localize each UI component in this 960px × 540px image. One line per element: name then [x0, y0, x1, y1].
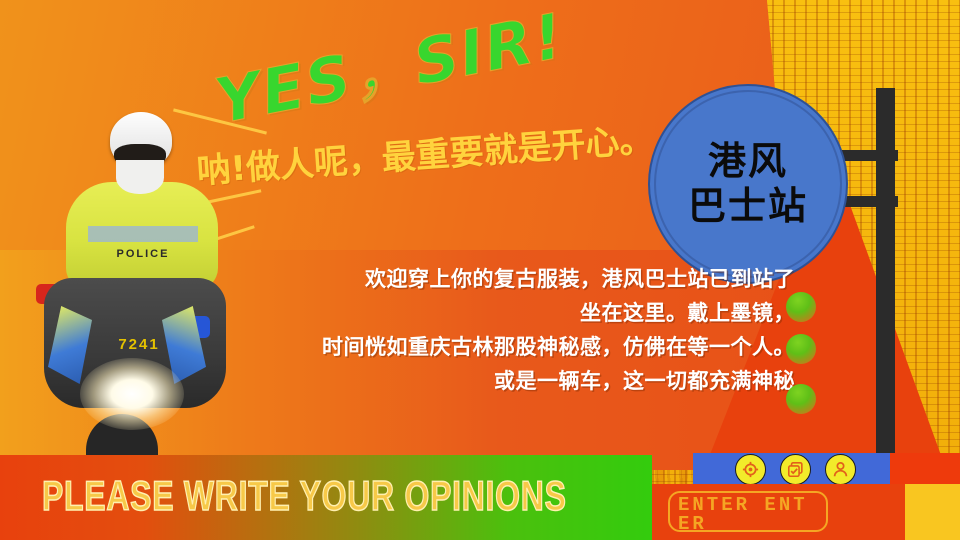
bus-stop-sign-line-1: 港风 — [708, 140, 788, 183]
body-copy-line: 或是一辆车，这一切都充满神秘 — [230, 364, 795, 398]
body-copy-line: 坐在这里。戴上墨镜， — [230, 296, 795, 330]
gradient-dot — [786, 292, 816, 322]
bus-stop-sign-line-2: 巴士站 — [688, 185, 808, 228]
rider-chin-guard — [116, 160, 164, 194]
gradient-dot — [786, 384, 816, 414]
body-copy-line: 时间恍如重庆古林那股神秘感，仿佛在等一个人。 — [230, 330, 795, 364]
red-block-top-right — [890, 453, 960, 484]
body-copy-line: 欢迎穿上你的复古服装，港风巴士站已到站了 — [230, 262, 795, 296]
motorcycle-unit-number: 7241 — [94, 336, 184, 353]
poster-body-copy: 欢迎穿上你的复古服装，港风巴士站已到站了 坐在这里。戴上墨镜， 时间恍如重庆古林… — [230, 262, 795, 398]
rider-vest-stripe — [88, 226, 198, 242]
bus-stop-post — [876, 88, 895, 480]
bus-stop-sign[interactable]: 港风 巴士站 — [648, 84, 848, 284]
headlight-beam — [80, 358, 184, 430]
checkbox-card-icon[interactable] — [780, 454, 811, 485]
gradient-dot — [786, 334, 816, 364]
poster-canvas: POLICE 7241 YES，SIR! 呐!做人呢，最重要就是开心。 港风 巴… — [0, 0, 960, 540]
person-icon[interactable] — [825, 454, 856, 485]
target-icon[interactable] — [735, 454, 766, 485]
icon-toolbar[interactable] — [735, 454, 856, 485]
yellow-corner-block — [905, 484, 960, 540]
opinions-prompt-label: PLEASE WRITE YOUR OPINIONS — [42, 472, 567, 520]
enter-button[interactable]: ENTER ENTER — [668, 491, 828, 532]
police-badge-label: POLICE — [88, 248, 198, 260]
